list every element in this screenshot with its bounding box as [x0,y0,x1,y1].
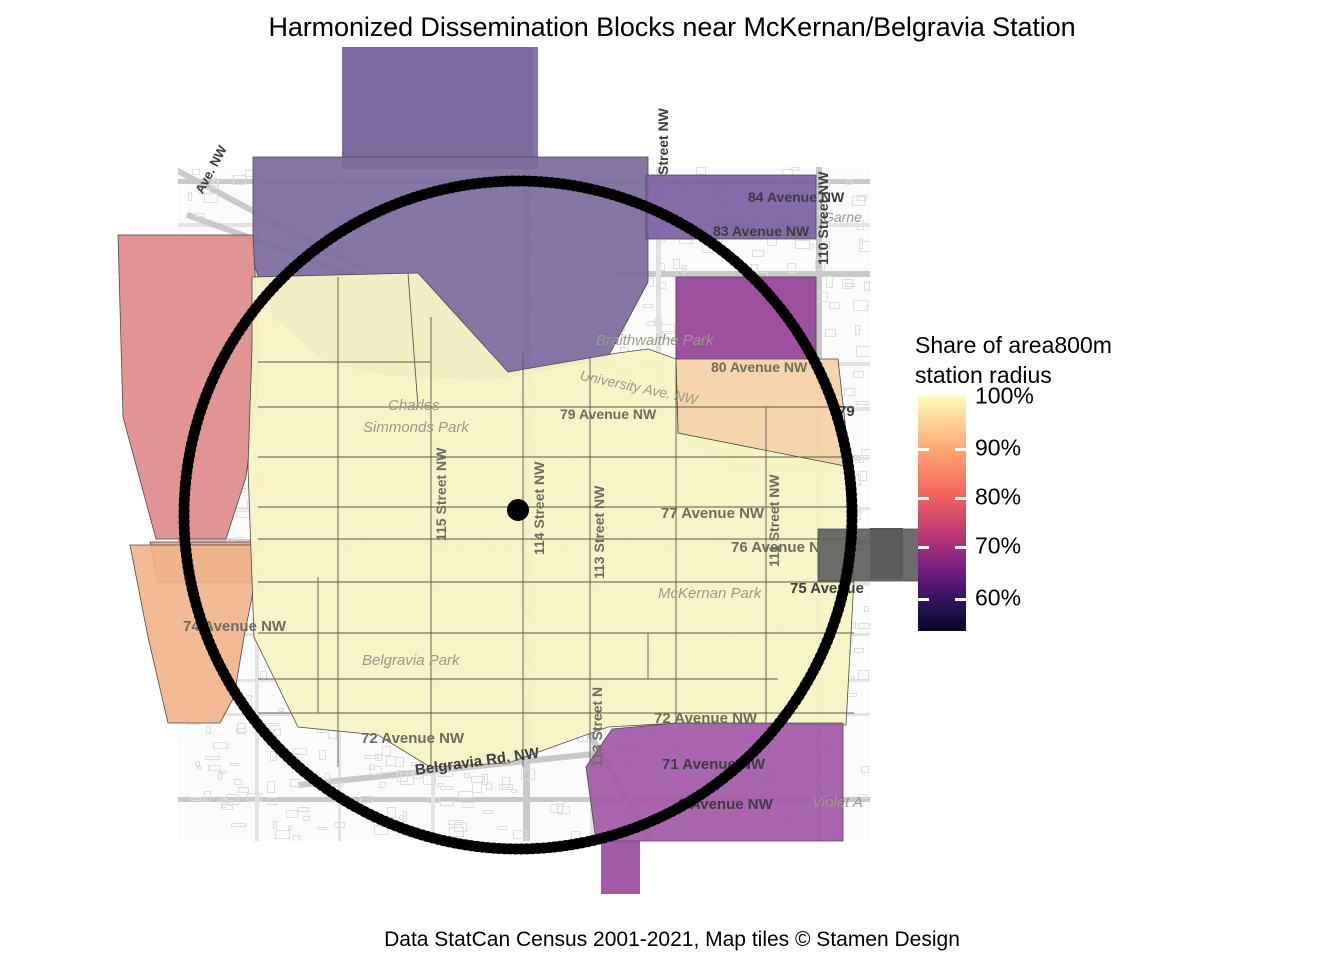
map-figure: Harmonized Dissemination Blocks near McK… [0,0,1344,960]
legend-tick-60-left [918,598,929,601]
legend-label-80: 80% [975,484,1021,511]
legend-label-90: 90% [975,434,1021,461]
station-dot[interactable] [507,499,529,521]
legend-label-100: 100% [975,383,1034,410]
legend-label-70: 70% [975,533,1021,560]
legend-tick-80-right [955,497,966,500]
legend-title: Share of area800m station radius [915,330,1185,390]
page-title: Harmonized Dissemination Blocks near McK… [0,12,1344,43]
legend-tick-90-right [955,448,966,451]
legend-title-line1: Share of area800m [915,330,1185,360]
legend-label-60: 60% [975,585,1021,612]
legend-colorbar-group: 100%90%80%70%60% [915,396,1215,636]
legend-tick-60-right [955,598,966,601]
legend-tick-80-left [918,497,929,500]
overflow-block-south [601,838,640,894]
map-label-street-nw-top: Street NW [655,108,671,175]
legend: Share of area800m station radius 100%90%… [915,330,1215,636]
figure-caption: Data StatCan Census 2001-2021, Map tiles… [0,928,1344,952]
legend-tick-90-left [918,448,929,451]
db-north-campus[interactable] [342,47,538,169]
map-panel[interactable]: Ave. NW84 Avenue NWGarne83 Avenue NWStre… [178,167,870,841]
legend-tick-70-left [918,546,929,549]
legend-title-line2: station radius [915,360,1185,390]
legend-tick-70-right [955,546,966,549]
legend-colorbar [918,396,966,631]
